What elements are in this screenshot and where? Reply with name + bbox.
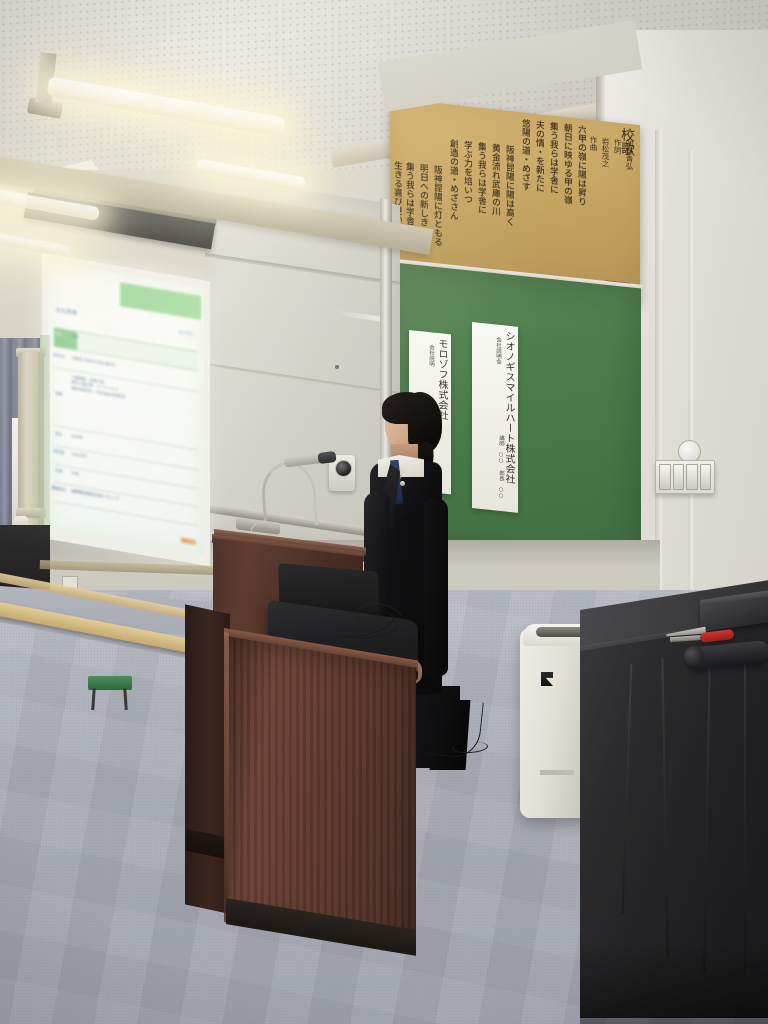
slide-corporate-logo (181, 538, 196, 546)
poster-left-subtitle: 会社説明 (428, 344, 435, 367)
poster-right-subtitle: 会社説明会 (495, 336, 502, 364)
calligraphy-column: 悠陽の道・めざす (519, 118, 530, 191)
calligraphy-column: 学ぶ力を培いつ (461, 140, 472, 204)
cloth-fold (744, 648, 746, 978)
calligraphy-column: 阪神昆陽に灯ともる (431, 164, 442, 246)
slide-subtitle: 会社案内 (179, 329, 195, 338)
lapel-pin-icon (400, 481, 405, 486)
left-wall-strip (40, 335, 50, 550)
projected-slide: 会社概要 会社案内 項目 内容 所在地 大阪府 大阪市中央区道修町 事業 介護事… (48, 262, 204, 554)
calligraphy-column: 阪神昆陽に陽は高く (503, 144, 514, 226)
poster-right-presenter: 講師 ○○ 部長 ○○ (497, 435, 504, 500)
light-switch-panel[interactable] (655, 460, 715, 494)
calligraphy-credits: 岡野青弘 作詞 岩松茂之 作曲 (594, 136, 634, 170)
lecture-hall-photo: 六甲の嶺に陽は昇り 朝日に映ゆる甲の嶺 集う我らは学舎に 夫の情・を新たに 悠陽… (0, 0, 768, 1024)
calligraphy-column: 創造の道・めざさん (447, 138, 458, 220)
light-switch-rocker[interactable] (659, 464, 671, 490)
poster-right-title: シオノギスマイルハート株式会社 (503, 330, 514, 484)
calligraphy-column: 六甲の嶺に陽は昇り (575, 124, 586, 206)
podium-corner-highlight (224, 632, 229, 923)
calligraphy-column: 朝日に映ゆる甲の嶺 (561, 123, 572, 205)
camera-lens-icon (335, 460, 352, 477)
light-switch-rocker[interactable] (686, 464, 698, 490)
credit-role-lyricist: 作詞 (613, 138, 622, 169)
slide-header-value: 内容 (71, 334, 78, 340)
projection-screen[interactable]: 会社概要 会社案内 項目 内容 所在地 大阪府 大阪市中央区道修町 事業 介護事… (48, 262, 204, 554)
whiteboard-magnet (335, 365, 339, 369)
air-purifier-label (540, 770, 574, 775)
credit-name-lyricist: 岡野青弘 (625, 140, 634, 171)
calligraphy-column: 集う我らは学舎に (547, 121, 558, 194)
light-switch-rocker[interactable] (673, 464, 685, 490)
presenter-arm-far (424, 498, 448, 676)
calligraphy-column: 明日への新しき (417, 163, 428, 227)
credit-name-composer: 岩松茂之 (601, 137, 610, 168)
slide-title: 会社概要 (56, 306, 78, 317)
light-switch-rocker[interactable] (700, 464, 712, 490)
microphone-head[interactable] (317, 451, 336, 464)
slide-row-value: 97名 (71, 471, 79, 477)
calligraphy-column: 夫の情・を新たに (533, 120, 544, 193)
calligraphy-column: 集う我らは学舎に (475, 141, 486, 214)
cloth-shadow (580, 940, 768, 1024)
poster-right: シオノギスマイルハート株式会社 会社説明会 講師 ○○ 部長 ○○ (472, 322, 518, 513)
calligraphy-column: 黄金流れ武庫の川 (489, 143, 500, 216)
credit-role-composer: 作曲 (589, 136, 598, 167)
slide-accent-bar (120, 282, 201, 320)
air-purifier-intake-vent (536, 627, 584, 637)
